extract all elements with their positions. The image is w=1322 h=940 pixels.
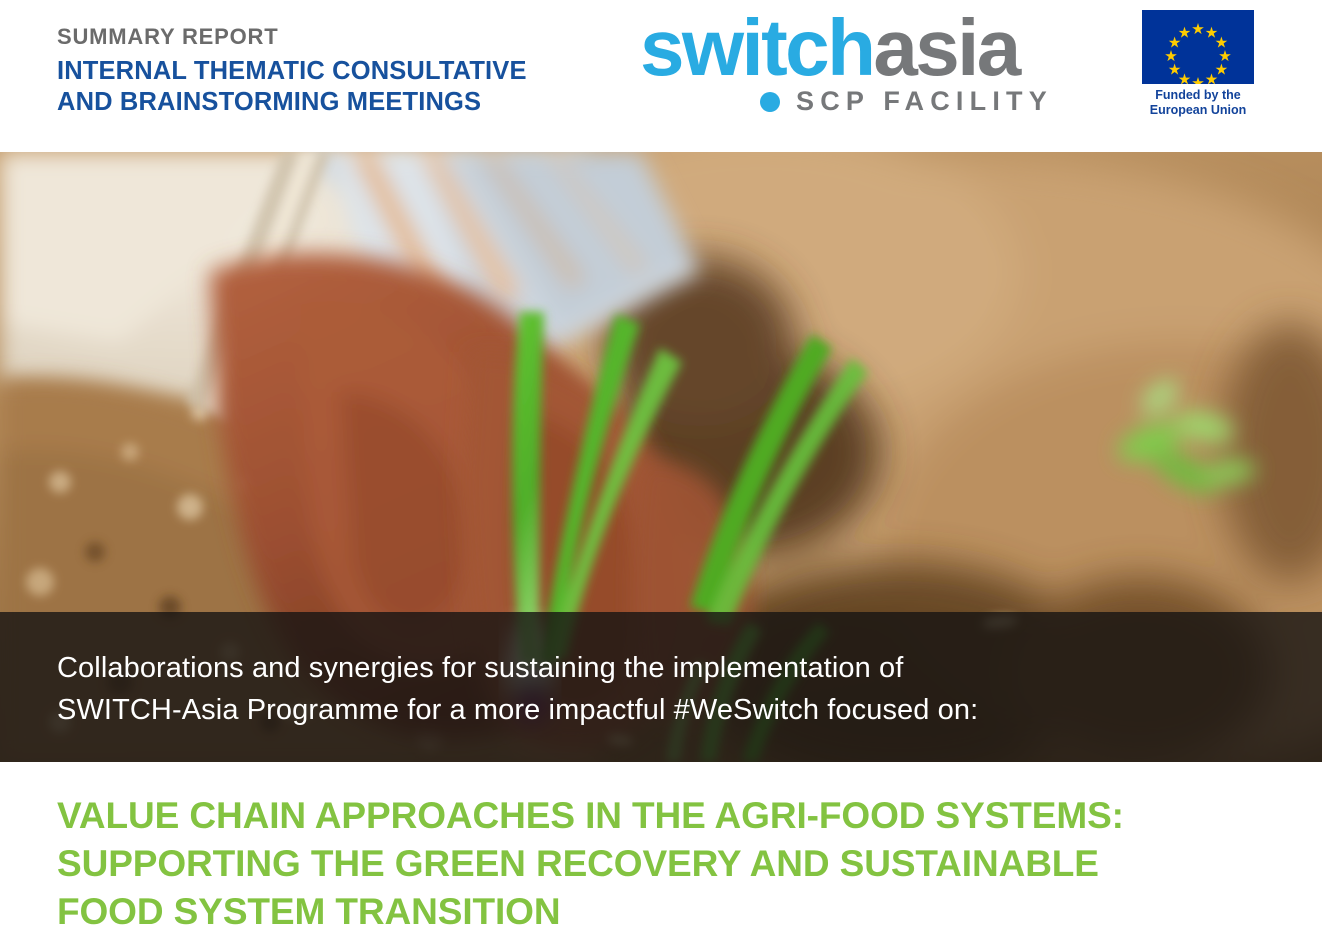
eu-caption-line-1: Funded by the [1142,88,1254,103]
eu-caption-line-2: European Union [1142,103,1254,118]
logo-tagline: SCP FACILITY [796,86,1053,117]
logo-word-switch: switch [640,3,873,92]
logo-dot-icon [760,92,780,112]
banner-text-block: Collaborations and synergies for sustain… [57,648,1267,732]
switchasia-wordmark: switchasia [640,8,1019,88]
header-text-block: SUMMARY REPORT INTERNAL THEMATIC CONSULT… [57,24,677,117]
cover-banner-overlay: Collaborations and synergies for sustain… [0,612,1322,762]
page-header: SUMMARY REPORT INTERNAL THEMATIC CONSULT… [0,0,1322,152]
logo-word-asia: asia [873,3,1018,92]
report-kicker: SUMMARY REPORT [57,24,677,49]
eu-funding-emblem: Funded by the European Union [1142,10,1260,119]
main-title: VALUE CHAIN APPROACHES IN THE AGRI-FOOD … [57,792,1297,936]
report-cover-page: SUMMARY REPORT INTERNAL THEMATIC CONSULT… [0,0,1322,940]
banner-line-1: Collaborations and synergies for sustain… [57,648,1267,690]
main-title-line-3: FOOD SYSTEM TRANSITION [57,888,1297,936]
banner-line-2: SWITCH-Asia Programme for a more impactf… [57,690,1267,732]
report-title-line-1: INTERNAL THEMATIC CONSULTATIVE [57,56,677,86]
eu-funding-caption: Funded by the European Union [1142,88,1254,119]
main-title-line-2: SUPPORTING THE GREEN RECOVERY AND SUSTAI… [57,840,1297,888]
switchasia-logo: switchasia SCP FACILITY [640,8,1100,128]
report-title-line-2: AND BRAINSTORMING MEETINGS [57,87,677,117]
eu-flag-icon [1142,10,1254,84]
main-title-line-1: VALUE CHAIN APPROACHES IN THE AGRI-FOOD … [57,792,1297,840]
